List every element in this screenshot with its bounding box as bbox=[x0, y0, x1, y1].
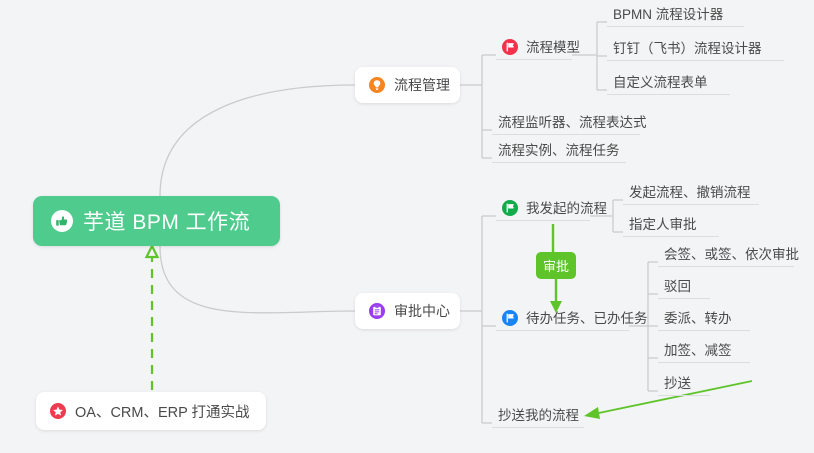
leaf-label: 流程实例、流程任务 bbox=[498, 143, 620, 158]
flag-icon bbox=[502, 310, 518, 326]
leaf-multi-sign[interactable]: 会签、或签、依次审批 bbox=[658, 241, 794, 267]
leaf-todo-done-tasks[interactable]: 待办任务、已办任务 bbox=[496, 305, 629, 331]
leaf-label: 委派、转办 bbox=[664, 311, 732, 326]
leaf-label: 待办任务、已办任务 bbox=[526, 311, 648, 326]
leaf-label: 流程模型 bbox=[526, 40, 580, 55]
leaf-add-remove-sign[interactable]: 加签、减签 bbox=[658, 337, 750, 363]
leaf-label: 会签、或签、依次审批 bbox=[664, 247, 799, 262]
leaf-label: 指定人审批 bbox=[629, 217, 697, 232]
leaf-carbon-copy[interactable]: 抄送 bbox=[658, 370, 710, 396]
leaf-label: 驳回 bbox=[664, 279, 691, 294]
leaf-cc-to-me[interactable]: 抄送我的流程 bbox=[492, 402, 584, 428]
leaf-dingtalk-feishu-designer[interactable]: 钉钉（飞书）流程设计器 bbox=[607, 35, 784, 61]
arrow-integration-to-root bbox=[147, 246, 158, 390]
approval-badge: 审批 bbox=[536, 252, 576, 279]
leaf-start-cancel[interactable]: 发起流程、撤销流程 bbox=[623, 179, 759, 205]
leaf-label: 抄送 bbox=[664, 376, 691, 391]
clipboard-icon bbox=[369, 303, 385, 319]
node-process-management[interactable]: 流程管理 bbox=[355, 67, 460, 103]
node-integration[interactable]: OA、CRM、ERP 打通实战 bbox=[36, 392, 266, 430]
node-approval-center[interactable]: 审批中心 bbox=[355, 293, 460, 329]
leaf-label: 自定义流程表单 bbox=[613, 75, 708, 90]
leaf-label: 钉钉（飞书）流程设计器 bbox=[613, 41, 762, 56]
node-label: 流程管理 bbox=[394, 75, 450, 95]
leaf-label: BPMN 流程设计器 bbox=[613, 7, 723, 22]
link-root-to-process-management bbox=[160, 85, 355, 196]
flag-icon bbox=[502, 39, 518, 55]
approval-badge-label: 审批 bbox=[543, 256, 569, 275]
leaf-delegate-transfer[interactable]: 委派、转办 bbox=[658, 305, 750, 331]
node-label: OA、CRM、ERP 打通实战 bbox=[75, 401, 250, 422]
leaf-label: 抄送我的流程 bbox=[498, 408, 579, 423]
node-label: 审批中心 bbox=[394, 301, 450, 321]
root-label: 芋道 BPM 工作流 bbox=[83, 206, 250, 236]
leaf-label: 流程监听器、流程表达式 bbox=[498, 115, 647, 130]
leaf-custom-process-form[interactable]: 自定义流程表单 bbox=[607, 69, 730, 95]
leaf-instance-task[interactable]: 流程实例、流程任务 bbox=[492, 137, 626, 163]
leaf-my-initiated[interactable]: 我发起的流程 bbox=[496, 195, 590, 221]
star-icon bbox=[50, 403, 66, 419]
leaf-reject[interactable]: 驳回 bbox=[658, 273, 710, 299]
leaf-bpmn-designer[interactable]: BPMN 流程设计器 bbox=[607, 1, 744, 27]
thumbs-up-icon bbox=[51, 210, 73, 232]
link-root-to-approval-center bbox=[160, 246, 355, 313]
leaf-listener-expression[interactable]: 流程监听器、流程表达式 bbox=[492, 109, 640, 135]
lightbulb-icon bbox=[369, 77, 385, 93]
leaf-label: 发起流程、撤销流程 bbox=[629, 185, 751, 200]
leaf-process-model[interactable]: 流程模型 bbox=[496, 34, 572, 60]
leaf-label: 加签、减签 bbox=[664, 343, 732, 358]
leaf-label: 我发起的流程 bbox=[526, 201, 607, 216]
root-node[interactable]: 芋道 BPM 工作流 bbox=[33, 196, 280, 246]
mindmap-canvas: 芋道 BPM 工作流 流程管理 审批中心 bbox=[0, 0, 814, 453]
flag-icon bbox=[502, 200, 518, 216]
leaf-assignee-approval[interactable]: 指定人审批 bbox=[623, 211, 719, 237]
